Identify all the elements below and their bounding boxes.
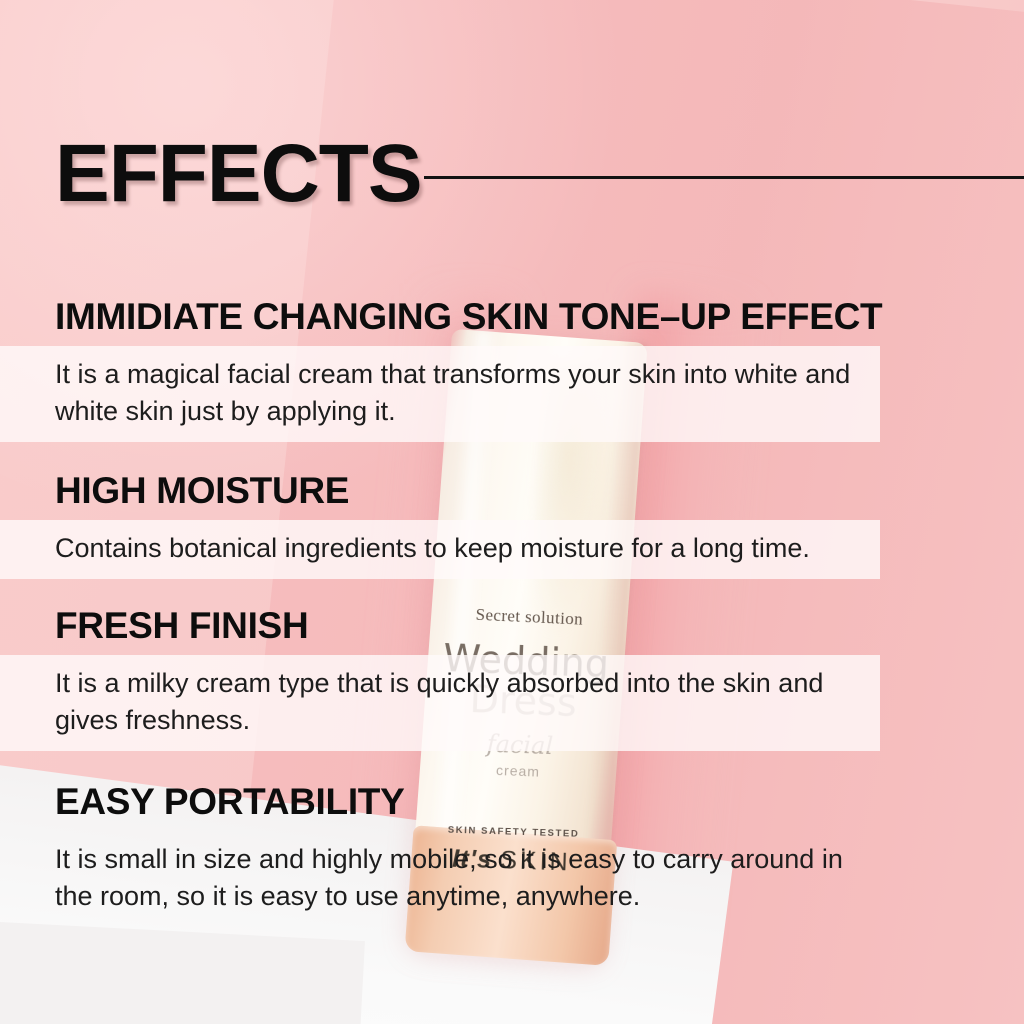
feature-heading: EASY PORTABILITY <box>0 781 1024 822</box>
feature-heading: HIGH MOISTURE <box>0 470 1024 511</box>
feature-section: HIGH MOISTURE Contains botanical ingredi… <box>0 470 1024 579</box>
feature-list: IMMIDIATE CHANGING SKIN TONE–UP EFFECT I… <box>0 296 1024 927</box>
feature-body: It is small in size and highly mobile, s… <box>0 831 880 926</box>
feature-body: Contains botanical ingredients to keep m… <box>0 520 880 579</box>
feature-section: IMMIDIATE CHANGING SKIN TONE–UP EFFECT I… <box>0 296 1024 442</box>
title-rule <box>424 176 1024 179</box>
feature-heading: FRESH FINISH <box>0 605 1024 646</box>
feature-body: It is a magical facial cream that transf… <box>0 346 880 441</box>
page-title: EFFECTS <box>55 134 422 214</box>
feature-body: It is a milky cream type that is quickly… <box>0 655 880 750</box>
page-title-row: EFFECTS <box>55 134 1024 214</box>
feature-heading: IMMIDIATE CHANGING SKIN TONE–UP EFFECT <box>0 296 1024 337</box>
feature-section: FRESH FINISH It is a milky cream type th… <box>0 605 1024 751</box>
product-effects-graphic: Secret solution Wedding Dress facial cre… <box>0 0 1024 1024</box>
feature-section: EASY PORTABILITY It is small in size and… <box>0 781 1024 927</box>
